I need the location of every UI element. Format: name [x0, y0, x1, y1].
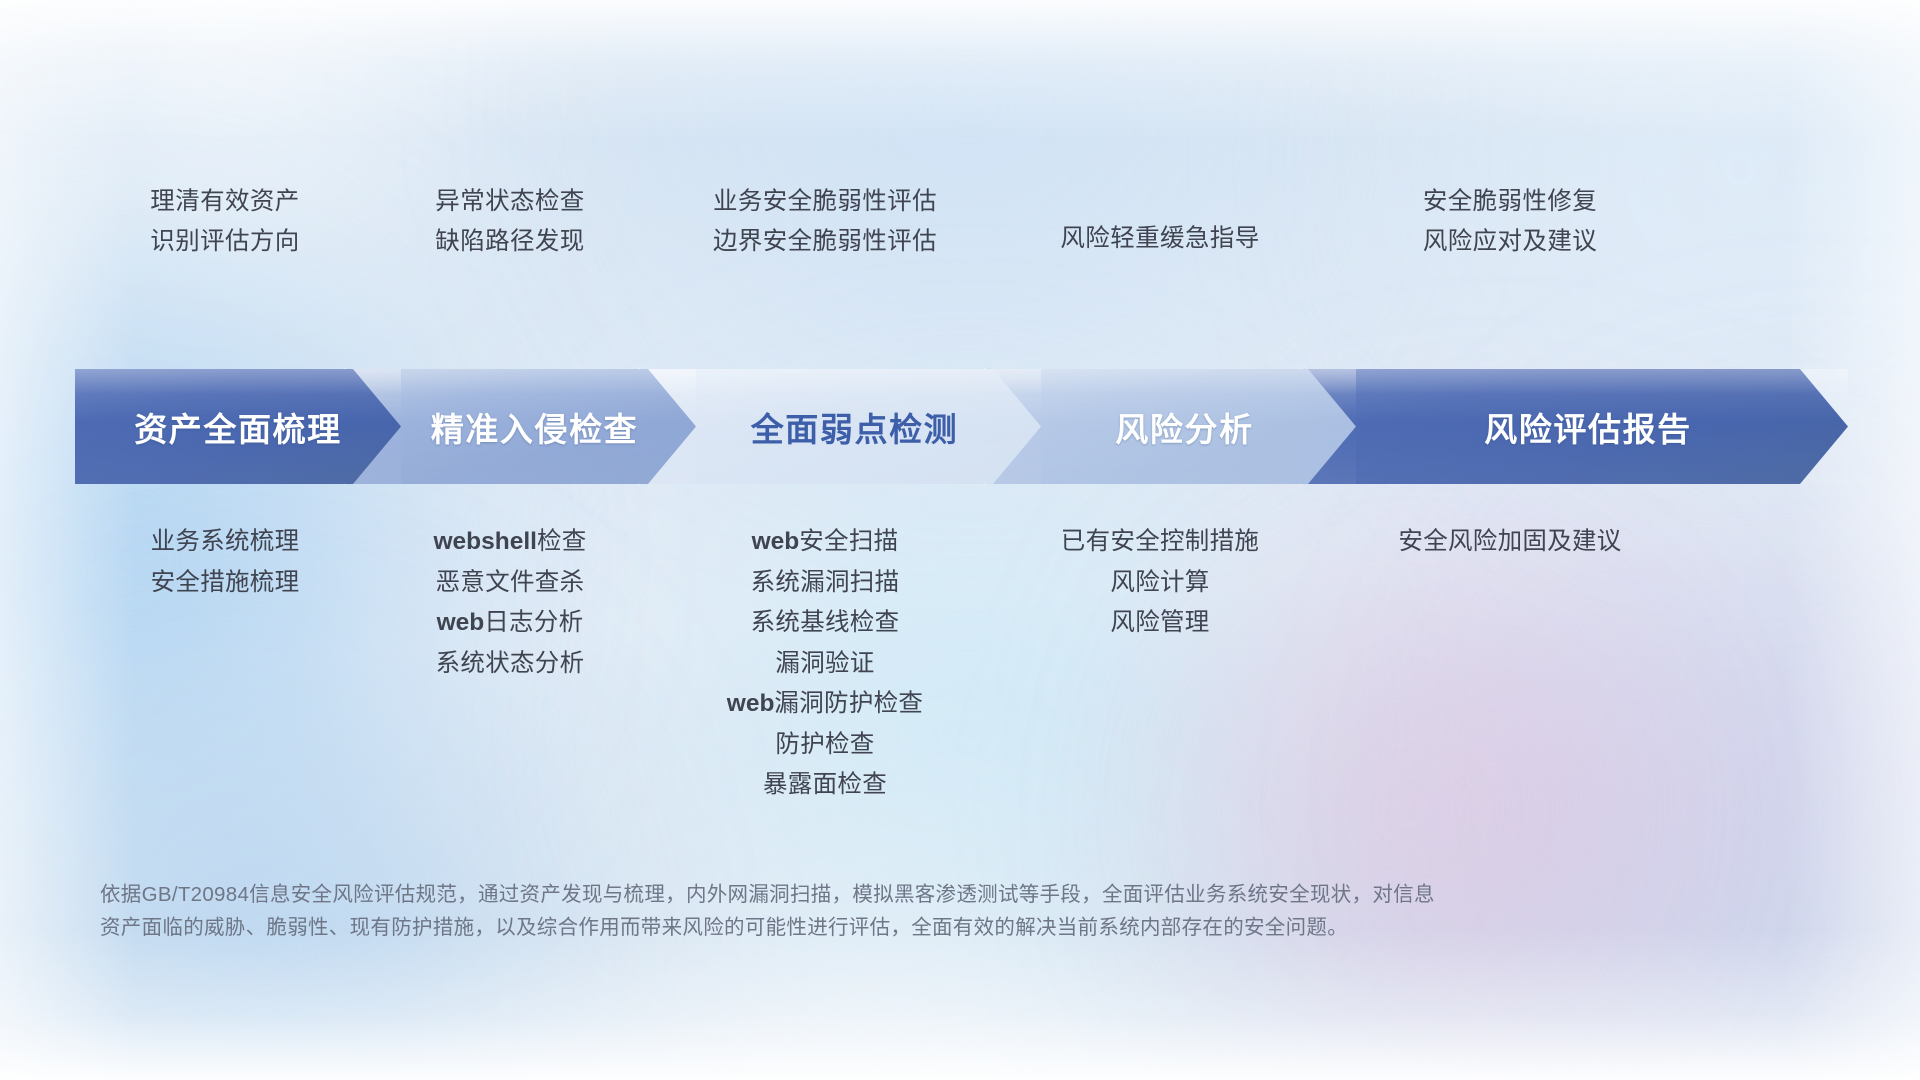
outcome-label: 风险轻重缓急指导 [1060, 225, 1259, 254]
outcome-group-intrusion-check: 异常状态检查缺陷路径发现 [345, 188, 675, 257]
activity-item: web日志分析 [437, 611, 584, 636]
outcome-label: 缺陷路径发现 [435, 228, 584, 257]
activity-group-risk-analysis: 已有安全控制措施风险计算风险管理 [985, 530, 1335, 652]
activity-item: 风险管理 [1110, 611, 1209, 636]
activity-item: 安全风险加固及建议 [1398, 530, 1621, 555]
outcome-label: 边界安全脆弱性评估 [713, 228, 937, 257]
footer-line-2: 资产面临的威胁、脆弱性、现有防护措施，以及综合作用而带来风险的可能性进行评估，全… [100, 911, 1640, 944]
stage-title: 风险评估报告 [1484, 403, 1692, 451]
activity-item: 已有安全控制措施 [1061, 530, 1259, 555]
activity-item: webshell检查 [433, 530, 586, 555]
process-stage-assessment-report[interactable]: 风险评估报告 [1300, 369, 1848, 484]
process-stage-asset-inventory[interactable]: 资产全面梳理 [75, 369, 401, 484]
activity-item: 业务系统梳理 [151, 530, 300, 555]
footer-line-1: 依据GB/T20984信息安全风险评估规范，通过资产发现与梳理，内外网漏洞扫描，… [100, 878, 1640, 911]
activity-group-assessment-report: 安全风险加固及建议 [1300, 530, 1720, 571]
stage-title: 资产全面梳理 [134, 403, 342, 451]
activity-item: 安全措施梳理 [151, 571, 300, 596]
activity-item: 漏洞验证 [775, 652, 874, 677]
outcome-label: 安全脆弱性修复 [1423, 188, 1597, 217]
outcome-label: 异常状态检查 [435, 188, 584, 217]
stage-title: 风险分析 [1115, 403, 1253, 451]
outcome-label: 识别评估方向 [150, 228, 299, 257]
outcomes-row: 理清有效资产识别评估方向异常状态检查缺陷路径发现业务安全脆弱性评估边界安全脆弱性… [0, 188, 1920, 278]
activity-item: web安全扫描 [752, 530, 899, 555]
outcome-label: 业务安全脆弱性评估 [713, 188, 937, 217]
activity-item: 系统状态分析 [436, 652, 585, 677]
outcome-group-asset-inventory: 理清有效资产识别评估方向 [75, 188, 375, 257]
outcome-group-weakness-detection: 业务安全脆弱性评估边界安全脆弱性评估 [640, 188, 1010, 257]
activity-group-asset-inventory: 业务系统梳理安全措施梳理 [75, 530, 375, 611]
activity-item: 系统漏洞扫描 [751, 571, 900, 596]
activity-item: 防护检查 [775, 733, 874, 758]
activity-group-weakness-detection: web安全扫描系统漏洞扫描系统基线检查漏洞验证web漏洞防护检查防护检查暴露面检… [640, 530, 1010, 814]
process-diagram: 理清有效资产识别评估方向异常状态检查缺陷路径发现业务安全脆弱性评估边界安全脆弱性… [0, 0, 1920, 1080]
process-stage-weakness-detection[interactable]: 全面弱点检测 [640, 369, 1041, 484]
activity-item: 系统基线检查 [751, 611, 900, 636]
stage-title: 精准入侵检查 [431, 403, 639, 451]
activity-item: web漏洞防护检查 [727, 692, 923, 717]
activity-item: 风险计算 [1110, 571, 1209, 596]
stage-title: 全面弱点检测 [751, 403, 959, 451]
outcome-label: 理清有效资产 [150, 188, 299, 217]
process-chevron-band: 资产全面梳理精准入侵检查全面弱点检测风险分析风险评估报告 [75, 369, 1848, 484]
outcome-label: 风险应对及建议 [1423, 228, 1597, 257]
footer-description: 依据GB/T20984信息安全风险评估规范，通过资产发现与梳理，内外网漏洞扫描，… [100, 878, 1640, 944]
activity-group-intrusion-check: webshell检查恶意文件查杀web日志分析系统状态分析 [345, 530, 675, 692]
outcome-group-risk-analysis: 风险轻重缓急指导 [985, 225, 1335, 254]
activity-item: 恶意文件查杀 [436, 571, 585, 596]
activity-item: 暴露面检查 [763, 773, 887, 798]
outcome-group-assessment-report: 安全脆弱性修复风险应对及建议 [1300, 188, 1720, 257]
